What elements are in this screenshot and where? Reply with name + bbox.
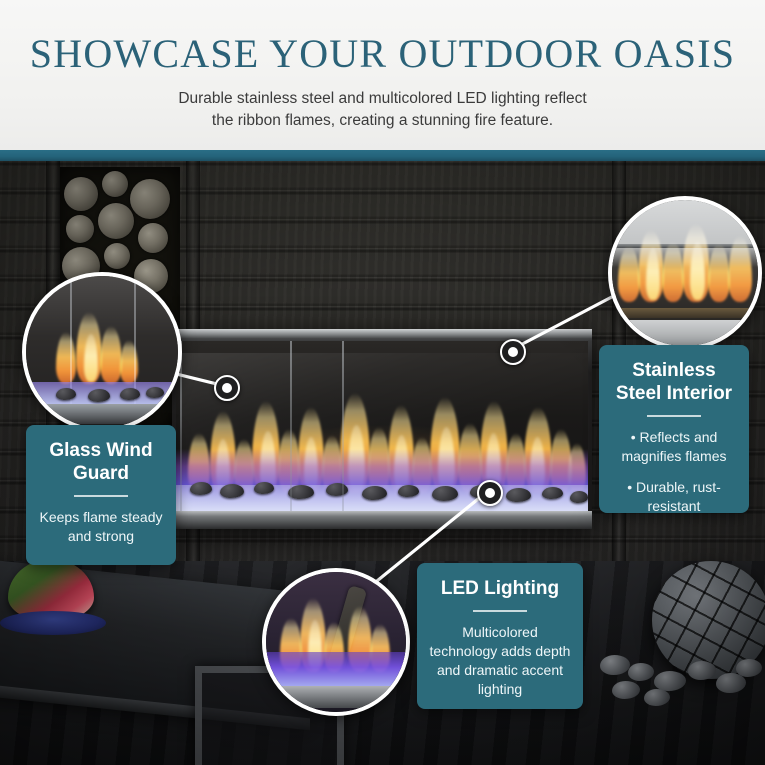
callout-glass-wind-guard[interactable]: Glass Wind Guard Keeps flame steady and … bbox=[26, 425, 176, 565]
fireplace-firebox bbox=[176, 341, 588, 511]
anchor-dot-glass-wind-guard[interactable] bbox=[214, 375, 240, 401]
page-title: SHOWCASE YOUR OUTDOOR OASIS bbox=[0, 30, 765, 77]
callout-divider bbox=[473, 610, 527, 612]
callout-title-line-2: Steel Interior bbox=[616, 383, 732, 404]
callout-title: Glass Wind Guard bbox=[38, 439, 164, 485]
callout-divider bbox=[74, 495, 128, 497]
magnifier-stainless-steel bbox=[608, 196, 762, 350]
header-banner: SHOWCASE YOUR OUTDOOR OASIS Durable stai… bbox=[0, 0, 765, 150]
subtitle-line-1: Durable stainless steel and multicolored… bbox=[0, 88, 765, 110]
callout-title-line-1: Glass Wind bbox=[49, 440, 152, 461]
callout-divider bbox=[647, 415, 701, 417]
subtitle-line-2: the ribbon flames, creating a stunning f… bbox=[0, 110, 765, 132]
fireplace-top-rail bbox=[172, 329, 592, 338]
callout-title: LED Lighting bbox=[429, 577, 571, 600]
callout-led-lighting[interactable]: LED Lighting Multicolored technology add… bbox=[417, 563, 583, 709]
page-subtitle: Durable stainless steel and multicolored… bbox=[0, 88, 765, 132]
anchor-dot-led-lighting[interactable] bbox=[477, 480, 503, 506]
callout-stainless-steel-interior[interactable]: Stainless Steel Interior • Reflects and … bbox=[599, 345, 749, 513]
accent-divider-band bbox=[0, 150, 765, 161]
callout-title-line-1: LED Lighting bbox=[441, 578, 559, 599]
callout-body-item: • Reflects and magnifies flames bbox=[611, 428, 737, 466]
linear-gas-fireplace bbox=[172, 329, 592, 529]
magnifier-led-lighting bbox=[262, 568, 410, 716]
magnifier-glass-wind-guard bbox=[22, 272, 182, 432]
infographic-page: SHOWCASE YOUR OUTDOOR OASIS Durable stai… bbox=[0, 0, 765, 765]
callout-title-line-2: Guard bbox=[73, 463, 129, 484]
fireplace-base bbox=[172, 511, 592, 529]
callout-body-text: Multicolored technology adds depth and d… bbox=[429, 623, 571, 699]
callout-title-line-1: Stainless bbox=[632, 360, 715, 381]
callout-title: Stainless Steel Interior bbox=[611, 359, 737, 405]
callout-body-text: Keeps flame steady and strong bbox=[38, 508, 164, 546]
blue-serving-plate bbox=[0, 611, 106, 635]
anchor-dot-stainless-steel[interactable] bbox=[500, 339, 526, 365]
callout-body-item: • Durable, rust-resistant bbox=[611, 478, 737, 516]
